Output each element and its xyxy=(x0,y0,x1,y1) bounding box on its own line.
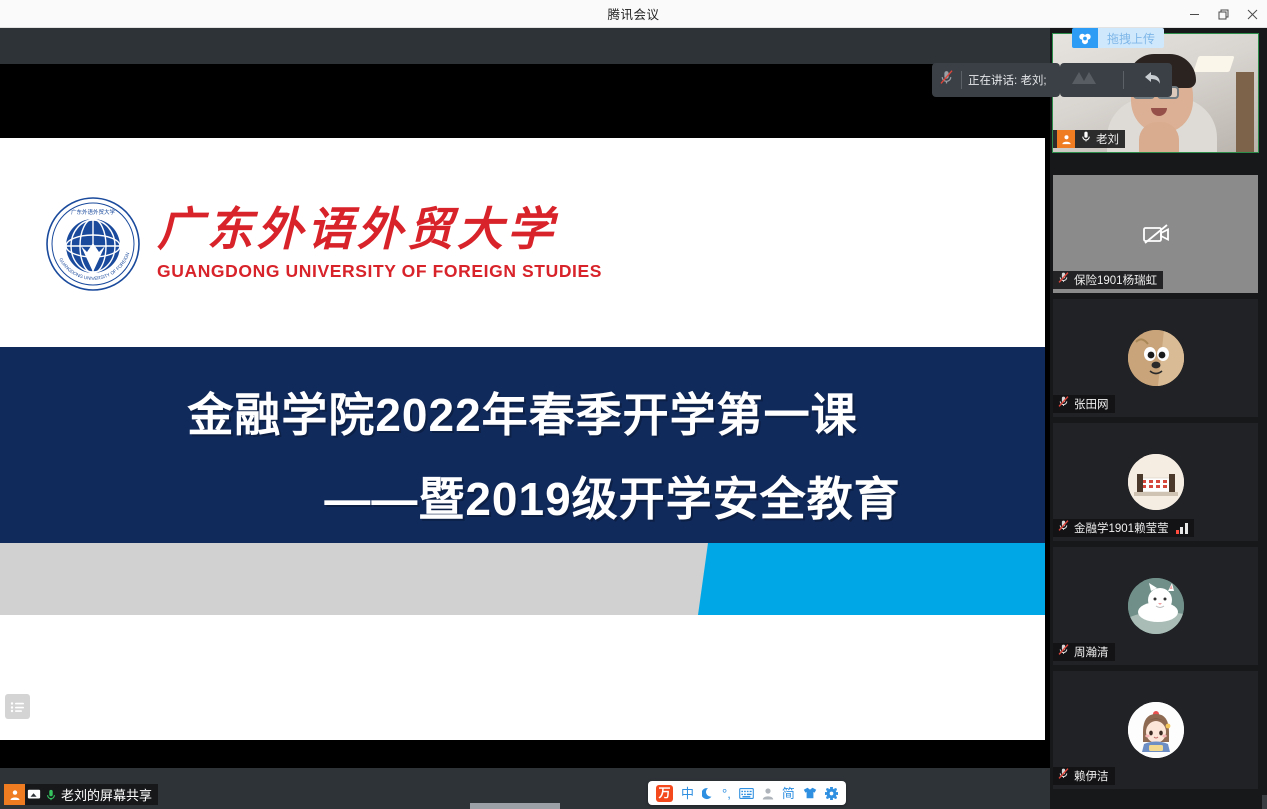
toolbar-divider xyxy=(1123,71,1124,89)
ime-settings-gear-icon[interactable] xyxy=(825,787,838,800)
participant-namebar: 张田网 xyxy=(1053,395,1115,413)
screen-share-icon xyxy=(25,788,42,801)
mic-on-icon xyxy=(1080,130,1092,148)
ime-simplified-chinese[interactable]: 简 xyxy=(782,787,795,800)
sogou-logo-icon[interactable]: 万 xyxy=(656,785,673,802)
window-title: 腾讯会议 xyxy=(607,4,659,23)
participant-namebar: 赖伊洁 xyxy=(1053,767,1115,785)
participant-tile-2[interactable]: 保险1901杨瑞虹 xyxy=(1053,175,1258,293)
cloud-upload-icon xyxy=(1072,28,1098,48)
host-person-icon xyxy=(4,784,25,805)
participant-tile-6[interactable]: 赖伊洁 xyxy=(1053,671,1258,789)
ime-skin-theme-icon[interactable] xyxy=(803,787,817,799)
participant-name: 张田网 xyxy=(1074,396,1109,412)
university-name-en: GUANGDONG UNIVERSITY OF FOREIGN STUDIES xyxy=(157,261,602,282)
svg-text:广东外语外贸大学: 广东外语外贸大学 xyxy=(71,208,116,216)
mic-muted-icon xyxy=(1057,395,1070,413)
participant-name: 老刘 xyxy=(1096,131,1119,147)
participant-namebar: 周瀚清 xyxy=(1053,643,1115,661)
ime-soft-keyboard-icon[interactable] xyxy=(739,788,754,799)
participant-namebar: 老刘 xyxy=(1053,130,1125,148)
ime-chinese-mode[interactable]: 中 xyxy=(681,787,694,800)
participant-name: 保险1901杨瑞虹 xyxy=(1074,272,1157,288)
cat-avatar xyxy=(1128,578,1184,634)
stage-letterbox-bottom xyxy=(0,740,1050,768)
drag-upload-label: 拖拽上传 xyxy=(1098,28,1164,48)
university-name-cn: 广东外语外贸大学 xyxy=(157,206,602,254)
slide-title-line1: 金融学院2022年春季开学第一课 xyxy=(0,379,1045,445)
participant-namebar: 保险1901杨瑞虹 xyxy=(1053,271,1163,289)
screen-share-label: 老刘的屏幕共享 xyxy=(4,784,158,805)
host-person-icon xyxy=(1057,130,1075,148)
slide-title-line2: ——暨2019级开学安全教育 xyxy=(0,463,1045,529)
floating-meeting-toolbar[interactable] xyxy=(1060,63,1172,97)
mic-muted-icon xyxy=(1057,643,1070,661)
shared-screen-stage: 广东外语外贸大学 GUANGDONG UNIVERSITY OF FOREIGN… xyxy=(0,28,1050,768)
slide-cyan-wedge xyxy=(698,543,1045,615)
presentation-slide: 广东外语外贸大学 GUANGDONG UNIVERSITY OF FOREIGN… xyxy=(0,138,1045,740)
participant-name: 赖伊洁 xyxy=(1074,768,1109,784)
minimize-button[interactable] xyxy=(1180,0,1209,28)
wechat-work-icon[interactable] xyxy=(1070,68,1104,93)
mic-muted-icon xyxy=(1057,519,1070,537)
university-emblem-icon: 广东外语外贸大学 GUANGDONG UNIVERSITY OF FOREIGN… xyxy=(45,196,141,292)
participant-name: 周瀚清 xyxy=(1074,644,1109,660)
taskbar-window-strip[interactable] xyxy=(470,803,560,809)
participant-namebar: 金融学1901赖莹莹 xyxy=(1053,519,1194,537)
participant-tile-5[interactable]: 周瀚清 xyxy=(1053,547,1258,665)
maximize-restore-button[interactable] xyxy=(1209,0,1238,28)
stage-letterbox-top xyxy=(0,64,1050,138)
participant-name: 金融学1901赖莹莹 xyxy=(1074,520,1169,536)
reply-arrow-icon[interactable] xyxy=(1143,69,1163,92)
stage-top-strip xyxy=(0,28,1050,64)
dog-avatar xyxy=(1128,330,1184,386)
window-titlebar: 腾讯会议 xyxy=(0,0,1267,28)
ime-punctuation-icon[interactable]: °, xyxy=(722,787,731,800)
participant-tile-4[interactable]: 金融学1901赖莹莹 xyxy=(1053,423,1258,541)
rail-scrollbar[interactable] xyxy=(1262,795,1267,809)
participant-tile-3[interactable]: 张田网 xyxy=(1053,299,1258,417)
drag-upload-button[interactable]: 拖拽上传 xyxy=(1072,28,1164,48)
tencent-meeting-window: 腾讯会议 xyxy=(0,0,1267,809)
mic-muted-icon xyxy=(938,69,955,91)
toast-divider xyxy=(961,71,962,89)
ime-user-profile-icon[interactable] xyxy=(762,787,774,800)
ime-toolbar[interactable]: 万 中 °, xyxy=(648,781,846,805)
girl-cartoon-avatar xyxy=(1128,702,1184,758)
screen-share-text: 老刘的屏幕共享 xyxy=(59,785,158,804)
mic-muted-icon xyxy=(1057,767,1070,785)
active-speaker-toast: 正在讲话: 老刘; xyxy=(932,63,1060,97)
close-button[interactable] xyxy=(1238,0,1267,28)
university-logo-lockup: 广东外语外贸大学 GUANGDONG UNIVERSITY OF FOREIGN… xyxy=(45,196,602,292)
mic-on-green-icon xyxy=(42,788,59,802)
active-speaker-text: 正在讲话: 老刘; xyxy=(968,72,1047,88)
network-signal-icon xyxy=(1176,523,1188,534)
slide-title-band: 金融学院2022年春季开学第一课 ——暨2019级开学安全教育 xyxy=(0,347,1045,543)
list-menu-icon[interactable] xyxy=(5,694,30,719)
ime-moon-icon[interactable] xyxy=(702,787,714,800)
classroom-photo-avatar xyxy=(1128,454,1184,510)
window-controls xyxy=(1180,0,1267,28)
mic-muted-icon xyxy=(1057,271,1070,289)
